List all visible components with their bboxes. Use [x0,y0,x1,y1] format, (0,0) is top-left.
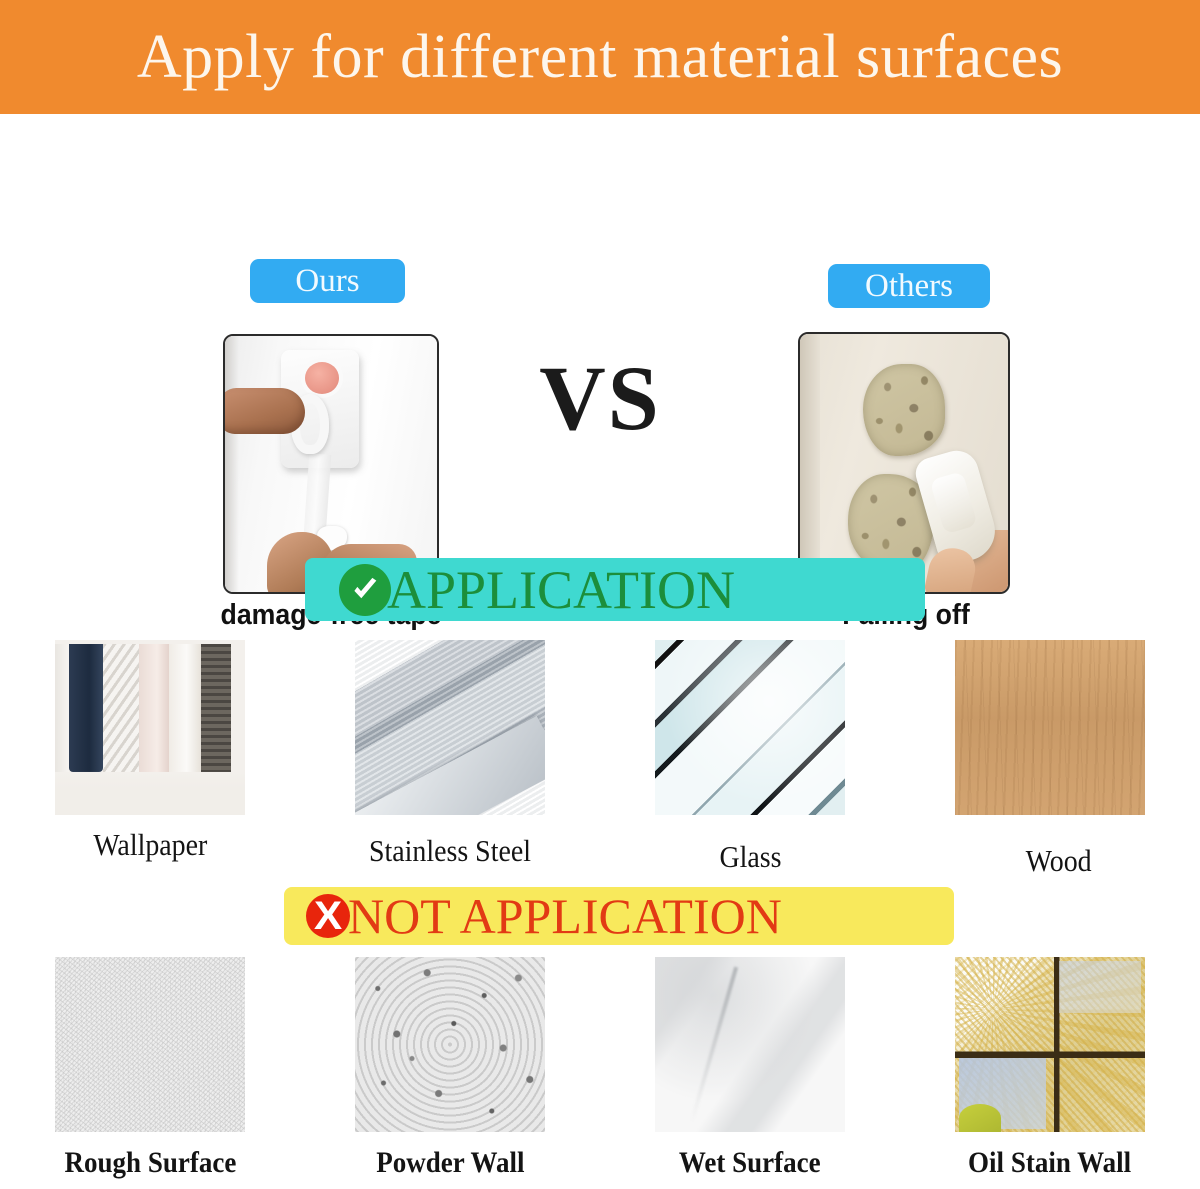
badge-ours: Ours [250,259,405,303]
material-label: Rough Surface [64,1148,236,1178]
material-label: Oil Stain Wall [968,1148,1131,1178]
not-application-materials-row: Rough Surface Powder Wall Wet Surface Oi… [0,957,1200,1178]
material-cell-powder-wall: Powder Wall [300,957,600,1178]
wet-surface-thumbnail [655,957,845,1132]
others-scene [800,334,1008,592]
material-label: Wood [1026,845,1092,876]
header-banner: Apply for different material surfaces [0,0,1200,114]
badge-ours-label: Ours [295,265,359,298]
not-application-banner-label: NOT APPLICATION [348,891,782,941]
wallpaper-thumbnail [55,640,245,815]
badge-others-label: Others [865,270,953,303]
material-label: Wallpaper [93,829,207,860]
grout-line-horizontal [955,1053,1145,1058]
paint-peel-patch-top [863,364,945,456]
wallpaper-roll [69,644,103,772]
material-cell-rough-surface: Rough Surface [0,957,300,1178]
wallpaper-roll [201,644,231,772]
material-label: Stainless Steel [369,835,531,866]
material-cell-wallpaper: Wallpaper [0,640,300,876]
grout-line-vertical [1054,957,1059,1132]
x-glyph: X [314,896,342,936]
badge-others: Others [828,264,990,308]
material-label: Wet Surface [679,1148,821,1178]
wallpaper-roll [139,644,169,772]
application-banner-label: APPLICATION [387,563,735,617]
material-label: Glass [719,841,781,872]
rough-surface-thumbnail [55,957,245,1132]
x-circle-icon: X [306,894,350,938]
material-cell-wood: Wood [900,640,1200,876]
application-banner: APPLICATION [305,558,925,621]
check-circle-icon [339,564,391,616]
wallpaper-roll [169,644,201,772]
oil-stain-wall-thumbnail [955,957,1145,1132]
wallpaper-roll [55,644,69,772]
tile-green-accent [959,1104,1001,1132]
material-label: Powder Wall [376,1148,524,1178]
comparison-section: Ours Others VS dama [0,114,1200,534]
tile-blue-upper [1058,961,1142,1014]
material-cell-stainless-steel: Stainless Steel [300,640,600,876]
vs-label: VS [0,352,1200,444]
powder-wall-thumbnail [355,957,545,1132]
material-cell-glass: Glass [600,640,900,876]
application-materials-row: Wallpaper Stainless Steel Glass Wood [0,640,1200,876]
stainless-steel-thumbnail [355,640,545,815]
wall-edge [800,334,820,592]
material-cell-oil-stain-wall: Oil Stain Wall [900,957,1200,1178]
not-application-banner: X NOT APPLICATION [284,887,954,945]
wallpaper-roll [103,644,139,772]
wood-thumbnail [955,640,1145,815]
page-title: Apply for different material surfaces [137,26,1063,88]
material-cell-wet-surface: Wet Surface [600,957,900,1178]
photo-others [798,332,1010,594]
glass-thumbnail [655,640,845,815]
